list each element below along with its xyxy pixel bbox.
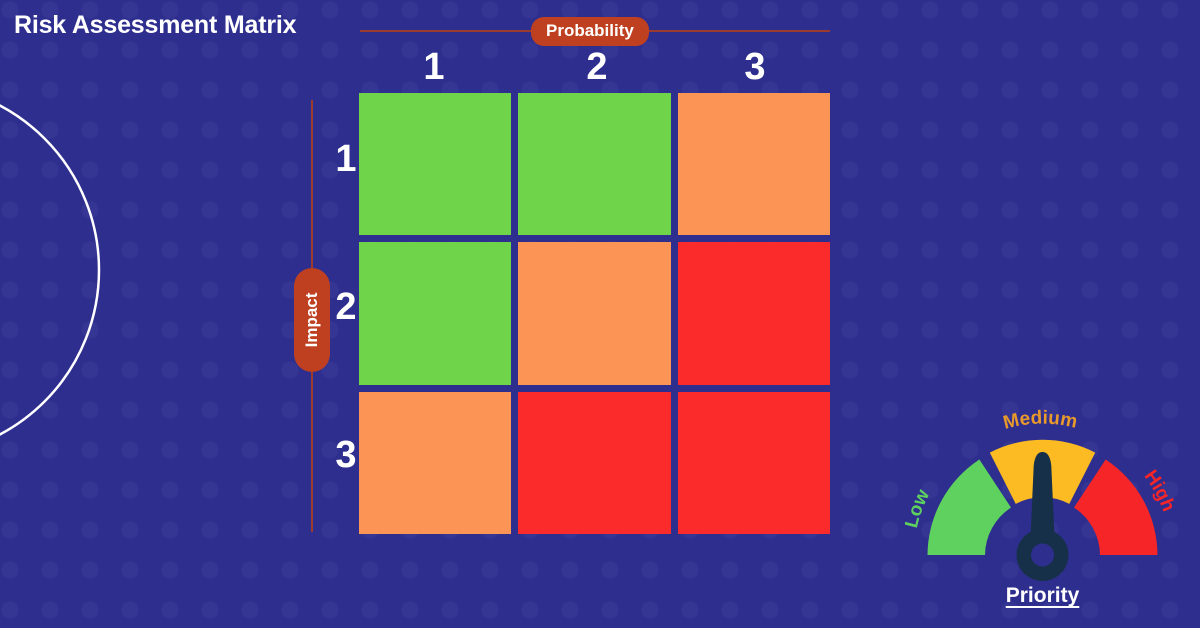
matrix-cell-impact2-probability3[interactable]	[678, 242, 830, 384]
matrix-cell-impact2-probability1[interactable]	[359, 242, 511, 384]
impact-axis-label-text: Impact	[302, 293, 322, 348]
column-header-2: 2	[567, 48, 627, 86]
priority-gauge: Low Medium High	[905, 408, 1180, 593]
matrix-cell-impact3-probability3[interactable]	[678, 392, 830, 534]
matrix-cell-impact1-probability2[interactable]	[518, 93, 670, 235]
column-header-3: 3	[725, 48, 785, 86]
gauge-caption: Priority	[905, 584, 1180, 608]
matrix-cell-impact3-probability1[interactable]	[359, 392, 511, 534]
matrix-cell-impact3-probability2[interactable]	[518, 392, 670, 534]
gauge-segment-high	[1074, 460, 1157, 555]
matrix-cell-impact2-probability2[interactable]	[518, 242, 670, 384]
gauge-label-low: Low	[905, 486, 934, 530]
gauge-label-low-text: Low	[905, 486, 934, 530]
gauge-label-medium-text: Medium	[1001, 408, 1079, 434]
probability-axis-label: Probability	[531, 17, 649, 46]
gauge-label-medium: Medium	[1001, 408, 1079, 434]
gauge-segment-low	[928, 460, 1011, 555]
risk-matrix-grid	[359, 93, 830, 534]
column-header-1: 1	[404, 48, 464, 86]
page-title: Risk Assessment Matrix	[14, 11, 296, 40]
matrix-cell-impact1-probability1[interactable]	[359, 93, 511, 235]
risk-assessment-matrix-slide: Risk Assessment Matrix Probability Impac…	[0, 0, 1200, 628]
gauge-hub-hole	[1031, 544, 1054, 567]
decorative-circle	[0, 80, 102, 460]
matrix-cell-impact1-probability3[interactable]	[678, 93, 830, 235]
impact-axis-label: Impact	[294, 268, 330, 372]
